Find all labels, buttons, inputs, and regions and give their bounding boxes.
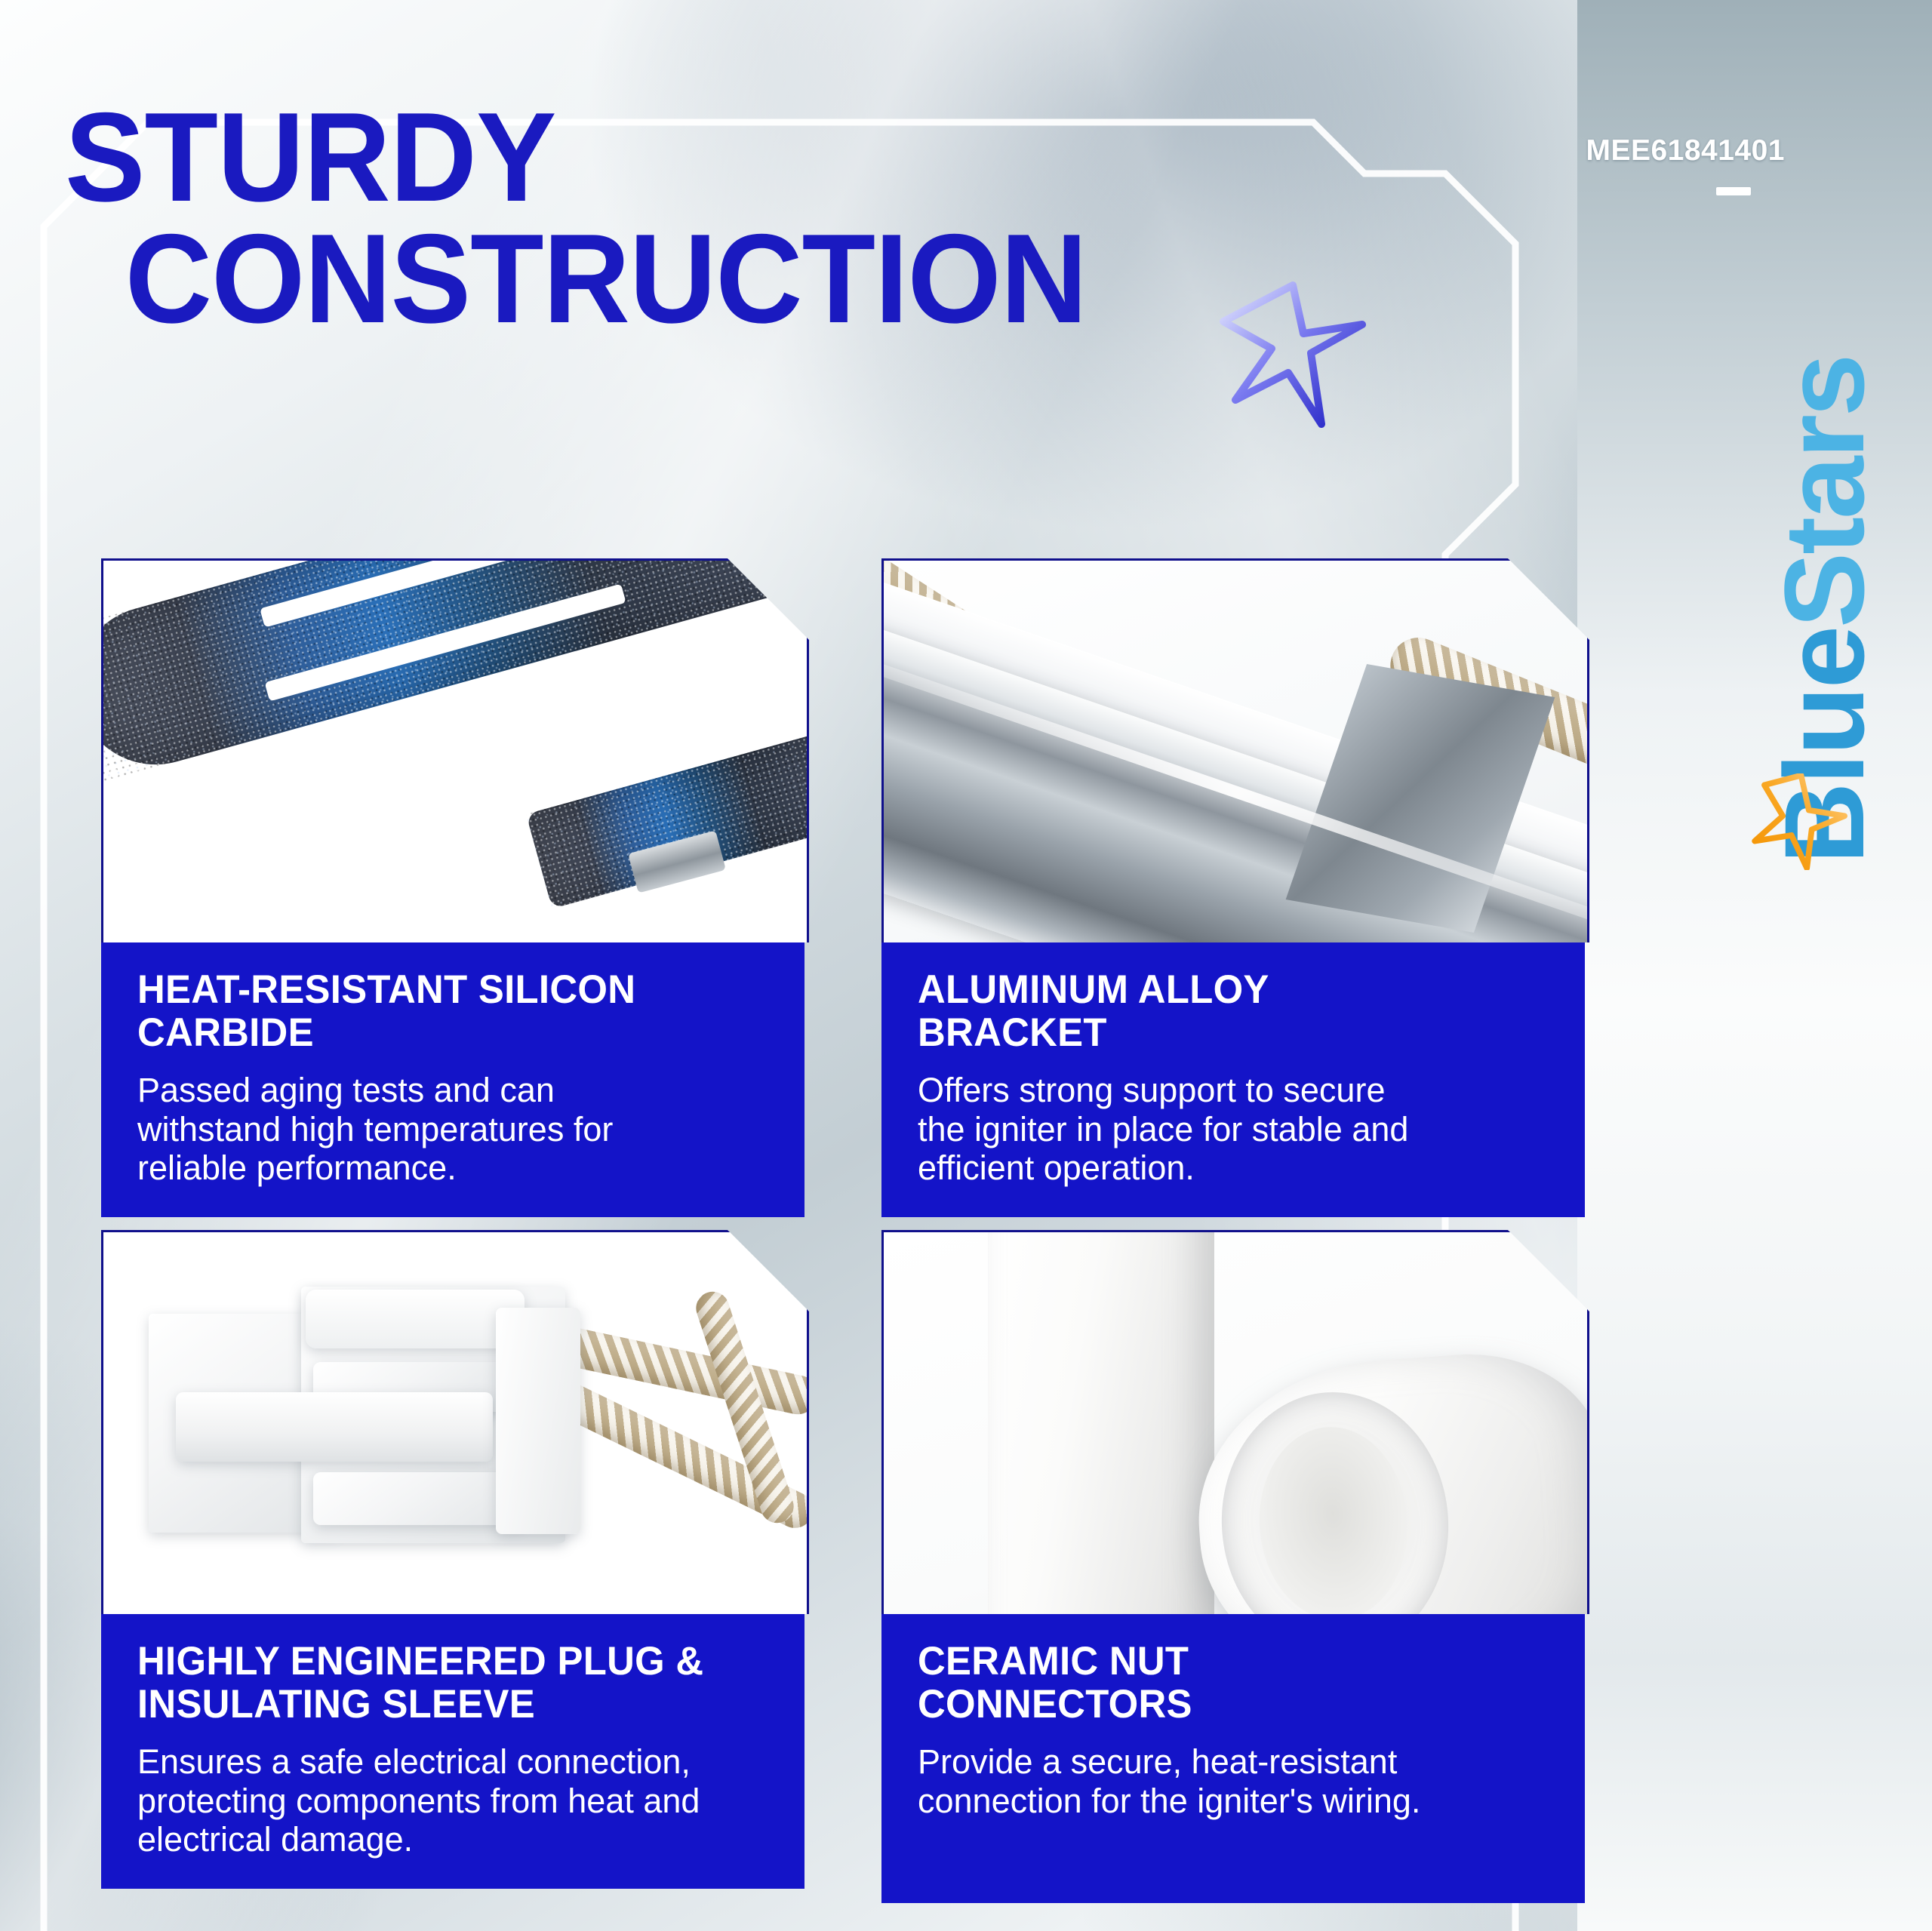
logo-star-icon — [1751, 773, 1847, 870]
connector-plug-image — [103, 1232, 807, 1614]
headline-line-1: STURDY — [65, 97, 1241, 218]
infographic-canvas: STURDY CONSTRUCTION MEE61841401 BlueStar… — [0, 0, 1932, 1931]
headline-line-2: CONSTRUCTION — [65, 218, 1241, 340]
card-photo-silicon-carbide — [101, 558, 809, 942]
feature-card-ceramic-nut: CERAMIC NUT CONNECTORS Provide a secure,… — [881, 1230, 1585, 1903]
card-text-aluminum-bracket: ALUMINUM ALLOY BRACKET Offers strong sup… — [881, 942, 1585, 1217]
card-text-plug-sleeve: HIGHLY ENGINEERED PLUG & INSULATING SLEE… — [101, 1614, 804, 1889]
ceramic-nut-image — [884, 1232, 1587, 1614]
feature-card-aluminum-bracket: ALUMINUM ALLOY BRACKET Offers strong sup… — [881, 558, 1585, 1217]
background-right-panel — [1577, 0, 1932, 1931]
silicon-carbide-igniter-image — [103, 561, 807, 942]
card-photo-ceramic-nut — [881, 1230, 1589, 1614]
part-number-underline — [1716, 187, 1751, 195]
feature-card-plug-sleeve: HIGHLY ENGINEERED PLUG & INSULATING SLEE… — [101, 1230, 804, 1889]
card-text-ceramic-nut: CERAMIC NUT CONNECTORS Provide a secure,… — [881, 1614, 1585, 1903]
feature-card-silicon-carbide: HEAT-RESISTANT SILICON CARBIDE Passed ag… — [101, 558, 804, 1217]
page-title: STURDY CONSTRUCTION — [65, 97, 1303, 340]
card-description-plug-sleeve: Ensures a safe electrical connection, pr… — [137, 1742, 773, 1859]
brand-logo: BlueStars — [1730, 313, 1918, 864]
card-photo-plug-sleeve — [101, 1230, 809, 1614]
card-title-ceramic-nut: CERAMIC NUT CONNECTORS — [918, 1640, 1527, 1726]
part-number: MEE61841401 — [1586, 134, 1785, 168]
card-text-silicon-carbide: HEAT-RESISTANT SILICON CARBIDE Passed ag… — [101, 942, 804, 1217]
card-description-silicon-carbide: Passed aging tests and can withstand hig… — [137, 1071, 773, 1187]
card-description-ceramic-nut: Provide a secure, heat-resistant connect… — [918, 1742, 1553, 1820]
aluminum-bracket-image — [884, 561, 1587, 942]
card-description-aluminum-bracket: Offers strong support to secure the igni… — [918, 1071, 1553, 1187]
card-photo-aluminum-bracket — [881, 558, 1589, 942]
brand-name-part-2: Stars — [1761, 356, 1887, 628]
card-title-aluminum-bracket: ALUMINUM ALLOY BRACKET — [918, 968, 1527, 1054]
card-title-plug-sleeve: HIGHLY ENGINEERED PLUG & INSULATING SLEE… — [137, 1640, 747, 1726]
card-title-silicon-carbide: HEAT-RESISTANT SILICON CARBIDE — [137, 968, 747, 1054]
